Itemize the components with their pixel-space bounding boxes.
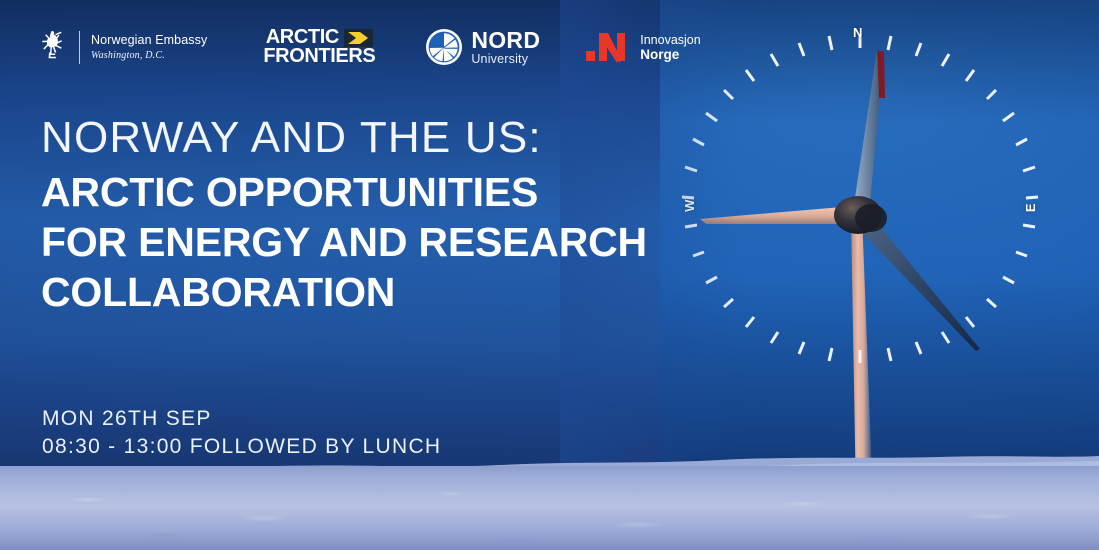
- partner-logo-bar: Norwegian Embassy Washington, D.C. ARCTI…: [38, 28, 701, 66]
- innovasjon-line1: Innovasjon: [640, 33, 700, 47]
- headline-line-2: ARCTIC OPPORTUNITIES: [41, 167, 701, 217]
- headline-block: NORWAY AND THE US: ARCTIC OPPORTUNITIES …: [41, 116, 701, 317]
- nord-wordmark: NORD: [471, 29, 540, 52]
- event-details-block: MON 26TH SEP 08:30 - 13:00 FOLLOWED BY L…: [42, 405, 441, 462]
- embassy-location: Washington, D.C.: [91, 50, 207, 61]
- headline-line-1: NORWAY AND THE US:: [41, 116, 701, 161]
- compass-label-north: N: [853, 25, 863, 40]
- innovasjon-line2: Norge: [640, 47, 700, 62]
- event-banner: N W E Norwegian Embassy: [0, 0, 1099, 550]
- snow-texture: [0, 466, 1099, 550]
- nord-globe-icon: [425, 28, 463, 66]
- logo-innovasjon-norge[interactable]: Innovasjon Norge: [586, 29, 700, 65]
- nord-subtitle: University: [471, 53, 540, 66]
- compass-label-east: E: [1023, 203, 1038, 212]
- logo-norwegian-embassy[interactable]: Norwegian Embassy Washington, D.C.: [38, 28, 207, 66]
- logo-nord-university[interactable]: NORD University: [425, 28, 540, 66]
- embassy-name: Norwegian Embassy: [91, 34, 207, 48]
- event-date: MON 26TH SEP: [42, 405, 441, 433]
- headline-line-3: FOR ENERGY AND RESEARCH: [41, 217, 701, 267]
- event-time: 08:30 - 13:00 FOLLOWED BY LUNCH: [42, 433, 441, 461]
- innovasjon-norge-n-icon: [586, 29, 630, 65]
- logo-arctic-frontiers[interactable]: ARCTIC FRONTIERS: [263, 28, 375, 66]
- norwegian-coat-of-arms-lion-icon: [38, 28, 68, 66]
- arctic-frontiers-line2: FRONTIERS: [263, 47, 375, 66]
- snow-ground: [0, 466, 1099, 550]
- headline-line-4: COLLABORATION: [41, 267, 701, 317]
- arctic-frontiers-arrow-icon: [344, 29, 373, 47]
- logo-divider: [79, 31, 80, 64]
